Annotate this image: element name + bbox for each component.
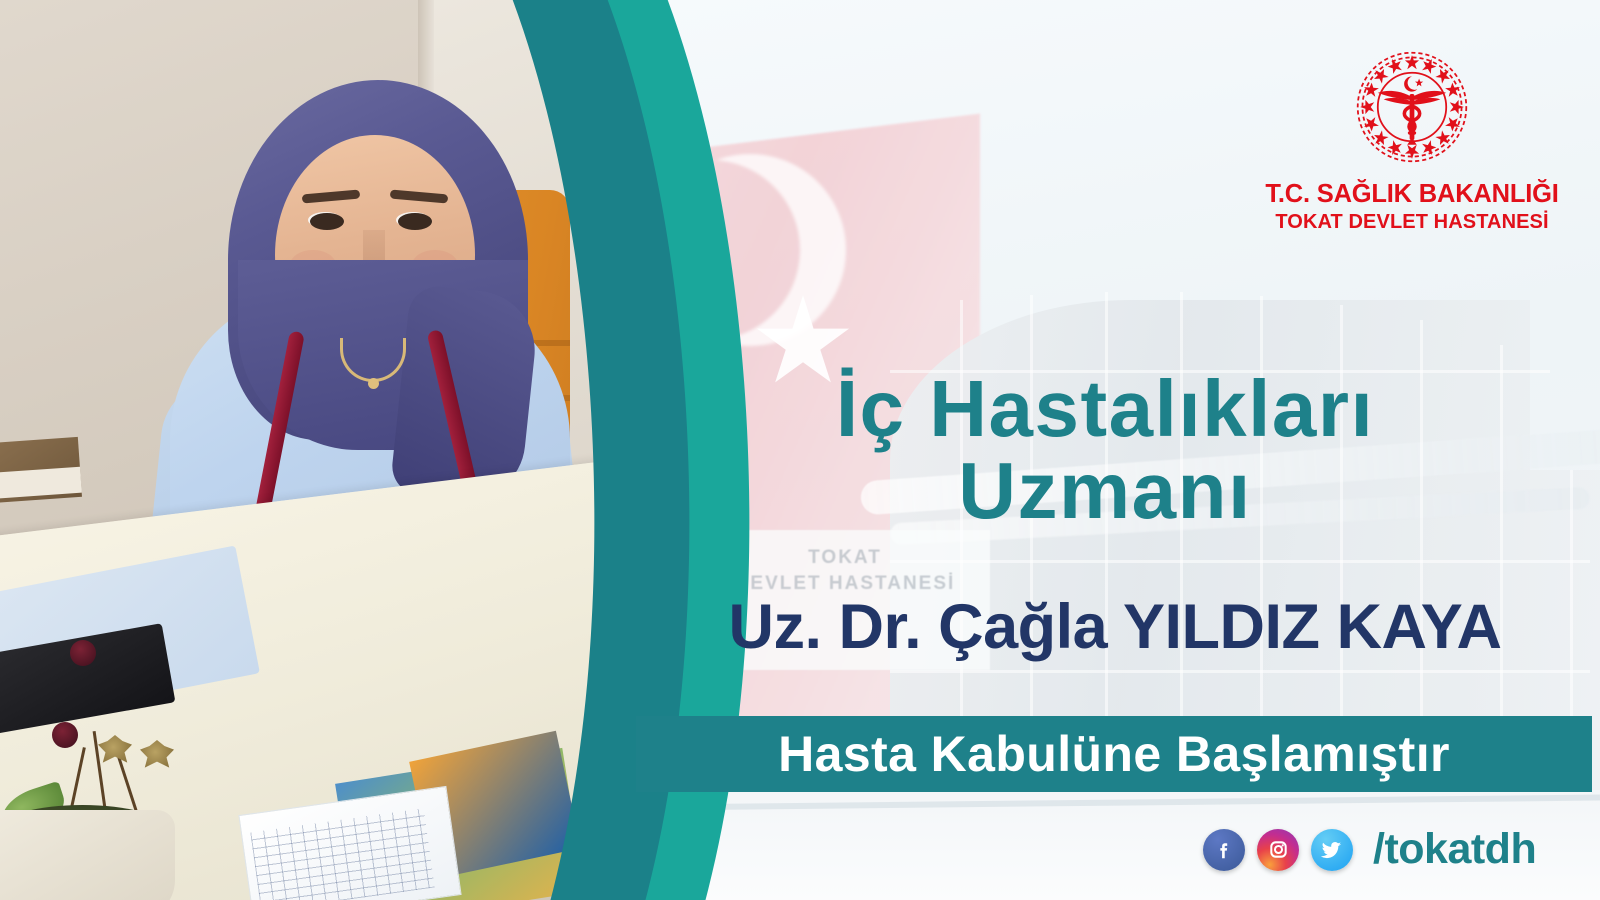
poster-root: TOKAT DEVLET HASTANESİ	[0, 0, 1600, 900]
social-handle[interactable]: /tokatdh	[1373, 825, 1536, 874]
doctor-photo	[0, 0, 600, 900]
twitter-bird-glyph	[1321, 838, 1344, 861]
specialty-title-line2: Uzmanı	[640, 450, 1570, 532]
instagram-glyph	[1267, 838, 1290, 861]
facebook-icon[interactable]	[1203, 829, 1245, 871]
announcement-banner-text: Hasta Kabulüne Başlamıştır	[778, 725, 1450, 783]
turkish-ministry-of-health-emblem-icon	[1353, 48, 1471, 166]
ministry-logo-line2: TOKAT DEVLET HASTANESİ	[1252, 211, 1572, 234]
specialty-title: İç Hastalıkları Uzmanı	[640, 368, 1570, 532]
necklace-pendant	[368, 378, 379, 389]
ministry-logo-line1: T.C. SAĞLIK BAKANLIĞI	[1252, 180, 1572, 209]
ministry-logo-block: T.C. SAĞLIK BAKANLIĞI TOKAT DEVLET HASTA…	[1252, 48, 1572, 263]
facebook-glyph	[1213, 839, 1235, 861]
announcement-banner: Hasta Kabulüne Başlamıştır	[636, 716, 1592, 792]
hospital-building-sign: TOKAT DEVLET HASTANESİ	[710, 545, 980, 597]
plant-pot	[0, 810, 175, 900]
twitter-icon[interactable]	[1311, 829, 1353, 871]
social-media-bar: /tokatdh	[1203, 825, 1536, 874]
flag-crescent-shape	[620, 160, 800, 340]
doctor-name: Uz. Dr. Çağla YILDIZ KAYA	[640, 594, 1590, 660]
hospital-sign-line1: TOKAT	[710, 545, 980, 571]
instagram-icon[interactable]	[1257, 829, 1299, 871]
specialty-title-line1: İç Hastalıkları	[640, 368, 1570, 450]
